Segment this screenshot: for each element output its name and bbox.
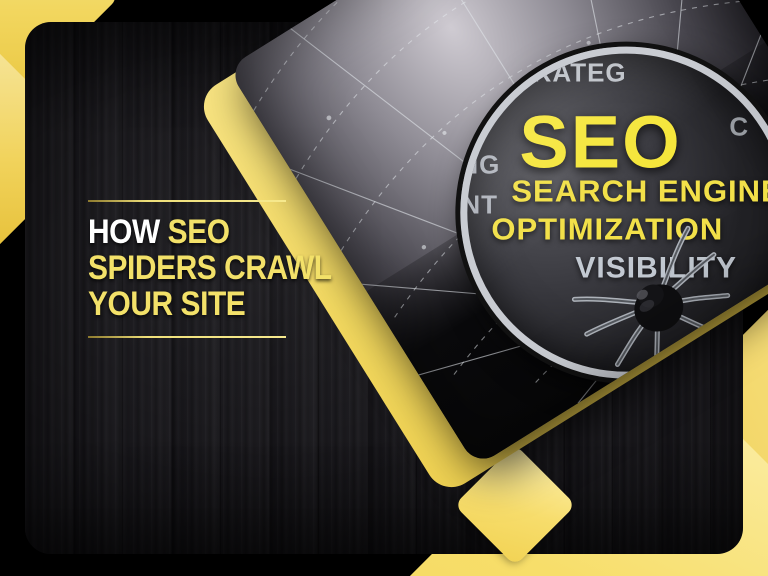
- lens-word-c: C: [729, 112, 749, 143]
- lens-word-search-engine: SEARCH ENGINE: [511, 174, 768, 210]
- headline-word-seo: SEO: [168, 213, 230, 251]
- banner-canvas: STRATEG C NG NT SEO SEARCH ENGINE OPTIMI…: [0, 0, 768, 576]
- lens-word-seo: SEO: [519, 100, 681, 185]
- headline-block: HOW SEO SPIDERS CRAWL YOUR SITE: [88, 200, 318, 338]
- headline-line-2: SPIDERS CRAWL: [88, 250, 290, 286]
- headline-line-3: YOUR SITE: [88, 286, 290, 322]
- lens-word-ng: NG: [459, 150, 500, 181]
- headline-rule-top: [88, 200, 286, 202]
- headline-line-1: HOW SEO: [88, 214, 290, 250]
- headline-rule-bottom: [88, 336, 286, 338]
- headline-word-how: HOW: [88, 213, 168, 251]
